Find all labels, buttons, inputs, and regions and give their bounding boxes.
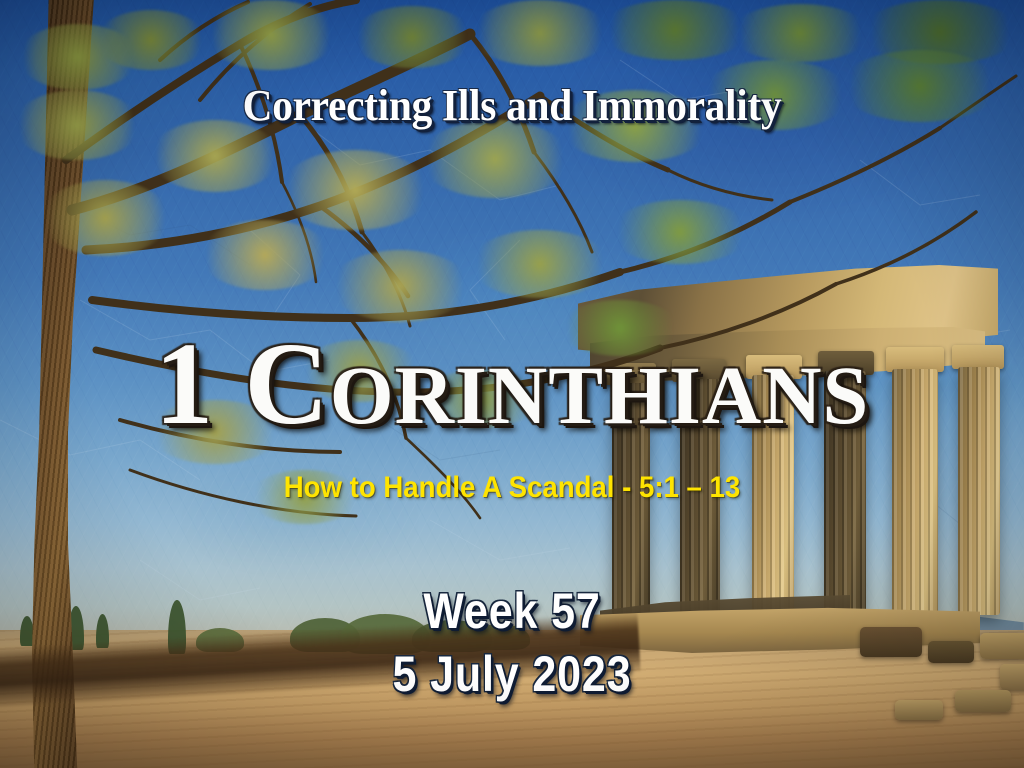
stone-block (895, 700, 943, 720)
header-title: Correcting Ills and Immorality (31, 80, 994, 131)
title-slide: Correcting Ills and Immorality 1 Corinth… (0, 0, 1024, 768)
week-number: Week 57 (72, 582, 953, 640)
stone-block (980, 633, 1024, 659)
page-title: 1 Corinthians (5, 325, 1019, 443)
stone-block (1000, 664, 1024, 690)
stone-block (955, 690, 1011, 712)
subtitle-scripture-reference: How to Handle A Scandal - 5:1 – 13 (41, 471, 983, 505)
date-label: 5 July 2023 (72, 645, 953, 703)
